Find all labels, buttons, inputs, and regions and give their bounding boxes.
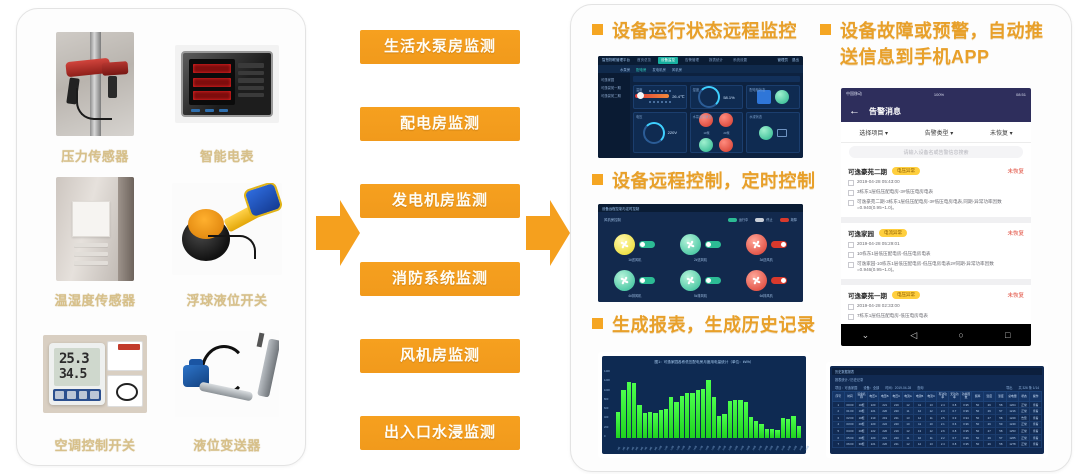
fan-icon xyxy=(680,234,701,255)
table-column-header: 序号 xyxy=(833,392,845,402)
recents-square-icon[interactable]: □ xyxy=(1005,330,1010,340)
phone-carrier: 中国移动 xyxy=(846,91,862,97)
table-cell: 0.9 xyxy=(949,415,961,422)
arrow-right-icon-1 xyxy=(314,196,362,270)
dashboard-subtab-generator[interactable]: 发电机房 xyxy=(652,67,666,72)
phone-navbar: ← 告警消息 xyxy=(841,100,1031,122)
table-cell: 3#柜 xyxy=(856,441,868,448)
chart-bar xyxy=(733,400,737,438)
panel-value: 58.1% xyxy=(723,95,734,100)
fan-icon xyxy=(746,234,767,255)
dashboard-tab-reports[interactable]: 报表统计 xyxy=(706,57,726,64)
legend-fault: 故障 xyxy=(780,217,797,222)
table-cell: 3 xyxy=(833,415,845,422)
panel-value: 220V xyxy=(668,130,677,135)
temperature-humidity-sensor-photo xyxy=(29,168,161,291)
status-badge: 电流异常 xyxy=(879,229,907,237)
table-cell: 11 xyxy=(925,434,937,441)
chart-bar xyxy=(738,400,742,438)
table-cell: 04:00 xyxy=(844,428,856,435)
table-cell: 12 xyxy=(914,415,926,422)
alarm-list-item[interactable]: 可逸豪苑二期 电压异常 未恢复 2019-04-28 05:43:00 3栋东1… xyxy=(841,161,1031,223)
float-level-switch-photo xyxy=(161,168,293,291)
control-title: 设备远程控制与定时控制 xyxy=(602,206,639,211)
table-cell: 58 xyxy=(995,428,1007,435)
bullet-square-icon xyxy=(820,24,831,35)
chevron-down-icon[interactable]: ⌄ xyxy=(862,330,870,341)
device-name: 3#送风机 xyxy=(760,257,773,262)
phone-battery: 100% xyxy=(934,92,944,97)
status-indicator-green xyxy=(775,90,789,104)
table-cell: 06:00 xyxy=(844,441,856,448)
dashboard-user[interactable]: 管理员 xyxy=(778,58,789,63)
alarm-status: 未恢复 xyxy=(1007,167,1024,175)
filter-project[interactable]: 选择项目 ▾ xyxy=(859,128,888,137)
alarm-project: 可逸豪苑二期 xyxy=(848,166,887,176)
chart-x-tick: 26栋 xyxy=(751,445,757,451)
dashboard-screenshot: 智慧物联管理平台 首页总览 设备监控 告警管理 报表统计 系统设置 管理员 退出… xyxy=(598,56,803,158)
table-cell: 221 xyxy=(879,401,891,408)
table-row[interactable]: 201:001#柜2212202201112122.30.70.96502657… xyxy=(833,408,1042,415)
phone-filter-row: 选择项目 ▾ 告警类型 ▾ 未恢复 ▾ xyxy=(841,122,1031,143)
phone-search-area: 请输入设备名或告警信息搜索 xyxy=(841,143,1031,161)
control-device-1: 1#送风机 xyxy=(604,232,666,264)
monitoring-scenarios-list: 生活水泵房监测 配电房监测 发电机房监测 消防系统监测 风机房监测 出入口水浸监… xyxy=(360,30,520,450)
table-cell: 7 xyxy=(833,441,845,448)
table-cell: 219 xyxy=(867,415,879,422)
pump-indicator-2 xyxy=(719,113,733,127)
dashboard-subtab-fan[interactable]: 风机房 xyxy=(672,67,682,72)
chart-y-tick: 1400 xyxy=(604,370,610,373)
chart-bar xyxy=(685,393,689,438)
table-cell: 0.95 xyxy=(960,441,972,448)
table-column-header: 设备名称 xyxy=(856,392,868,402)
alarm-time: 2019-04-28 05:29:01 xyxy=(857,241,900,247)
control-device-grid: 1#送风机 2#送风机 xyxy=(604,232,797,300)
dashboard-main: 温度 26.4℃ 湿度 58.1% xyxy=(630,73,803,158)
sensor-label: 空调控制开关 xyxy=(54,437,135,455)
table-cell: 1#柜 xyxy=(856,401,868,408)
alarm-time: 2019-04-28 02:33:00 xyxy=(857,303,900,309)
chart-bar xyxy=(754,421,758,438)
table-cell: 1#柜 xyxy=(856,415,868,422)
dashboard-panel-humidity: 湿度 58.1% xyxy=(690,85,744,109)
table-cell: 01:00 xyxy=(844,408,856,415)
air-conditioner-control-switch-photo: 25.334.5 xyxy=(29,312,161,435)
search-input[interactable]: 请输入设备名或告警信息搜索 xyxy=(849,146,1024,158)
home-circle-icon[interactable]: ○ xyxy=(958,330,963,340)
table-cell: 正常 xyxy=(1018,441,1030,448)
dashboard-tab-settings[interactable]: 系统设置 xyxy=(730,57,750,64)
table-row[interactable]: 403:002#柜2202222201011102.10.60.96502659… xyxy=(833,421,1042,428)
table-cell: 查看 xyxy=(1030,421,1042,428)
table-column-header: 总电量 xyxy=(1007,392,1019,402)
device-toggle[interactable] xyxy=(771,277,787,284)
table-column-header: 电压B xyxy=(879,392,891,402)
table-cell: 50 xyxy=(972,428,984,435)
back-triangle-icon[interactable]: ◁ xyxy=(910,330,917,341)
panel-title: 水泵运行状态 xyxy=(693,114,712,119)
sensor-label: 液位变送器 xyxy=(193,437,261,455)
table-row[interactable]: 100:001#柜2202212191211132.40.80.95502658… xyxy=(833,401,1042,408)
alarm-time-row: 2019-04-28 05:43:00 xyxy=(848,179,1024,186)
flood-indicator-green xyxy=(759,126,773,140)
table-cell: 2.1 xyxy=(937,421,949,428)
table-column-header: 电流C xyxy=(925,392,937,402)
pump-indicator-3 xyxy=(699,138,713,152)
table-cell: 13 xyxy=(925,441,937,448)
dashboard-sidebar-item-2[interactable]: 可逸豪苑二期 xyxy=(601,93,627,98)
table-header-row: 序号时间设备名称电压A电压B电压C电流A电流B电流C有功功率无功功率功率因数频率… xyxy=(833,392,1042,402)
table-cell: 1 xyxy=(833,401,845,408)
panel-title: 电压 xyxy=(636,114,642,119)
table-cell: 2.6 xyxy=(937,428,949,435)
chart-x-tick: 27栋 xyxy=(757,445,763,451)
table-cell: 0.8 xyxy=(949,441,961,448)
alarm-device-row: 7栋东1层低压配电房-低压电房电表 xyxy=(848,313,1024,320)
alarm-time: 2019-04-28 05:43:00 xyxy=(857,179,900,185)
table-cell: 12 xyxy=(925,408,937,415)
filter-device[interactable]: 设备：全部 xyxy=(863,385,879,390)
query-button[interactable]: 查询 xyxy=(917,385,923,390)
clock-icon xyxy=(848,304,854,310)
sensor-grid: 压力传感器 智能电表 xyxy=(17,9,305,465)
table-cell: 5 xyxy=(833,428,845,435)
dashboard-body: 可逸家园 可逸豪苑一期 可逸豪苑二期 温度 26.4℃ xyxy=(598,73,803,158)
table-titlebar: 历史数据报表 xyxy=(832,368,1042,375)
table-column-header: 电压A xyxy=(867,392,879,402)
alarm-time-row: 2019-04-28 05:29:01 xyxy=(848,241,1024,248)
sensor-item-pressure: 压力传感器 xyxy=(29,23,161,166)
chart-y-tick: 800 xyxy=(604,398,610,401)
arrow-left-icon[interactable]: ← xyxy=(849,106,860,117)
status-badge: 电压异常 xyxy=(892,291,920,299)
dashboard-tab-device-monitor[interactable]: 设备监控 xyxy=(658,57,678,64)
table-cell: 查看 xyxy=(1030,401,1042,408)
filter-project[interactable]: 项目：可逸家园 xyxy=(835,385,857,390)
device-name: 6#排风机 xyxy=(760,293,773,298)
table-cell: 10 xyxy=(902,421,914,428)
table-cell: 222 xyxy=(879,421,891,428)
dashboard-tab-alarm[interactable]: 告警管理 xyxy=(682,57,702,64)
alarm-status: 未恢复 xyxy=(1007,229,1024,237)
table-cell: 0.8 xyxy=(949,428,961,435)
device-toggle[interactable] xyxy=(771,241,787,248)
table-cell: 1216 xyxy=(1007,408,1019,415)
chart-bar xyxy=(781,418,785,438)
chart-x-tick: 25栋 xyxy=(745,445,751,451)
alarm-project: 可逸家园 xyxy=(848,228,874,238)
filter-alarm-type[interactable]: 告警类型 ▾ xyxy=(925,128,954,137)
table-row[interactable]: 706:003#柜2212202211212132.40.80.95502658… xyxy=(833,441,1042,448)
panel-title: 配电柜状态 xyxy=(749,87,765,92)
table-cell: 27 xyxy=(983,415,995,422)
table-cell: 50 xyxy=(972,441,984,448)
panel-title: 水浸状态 xyxy=(749,114,762,119)
chart-bar xyxy=(797,426,801,438)
chart-bar xyxy=(706,380,710,438)
table-cell: 219 xyxy=(891,401,903,408)
phone-page-title: 告警消息 xyxy=(869,106,901,117)
table-row[interactable]: 302:001#柜2192192211312112.50.90.94502758… xyxy=(833,415,1042,422)
table-cell: 12 xyxy=(902,401,914,408)
data-table: 序号时间设备名称电压A电压B电压C电流A电流B电流C有功功率无功功率功率因数频率… xyxy=(832,391,1042,448)
feature-heading-alarm-push: 设备故障或预警，自动推送信息到手机APP xyxy=(820,18,1050,70)
device-icon xyxy=(848,190,854,196)
table-panel: 历史数据报表 报表统计 / 历史记录 项目：可逸家园 设备：全部 时间：2019… xyxy=(830,366,1044,454)
alarm-detail: 可逸家园-10栋东1层低压配电房-低压电房电表2#同期-异常功率因数=0.946… xyxy=(857,261,1024,273)
search-placeholder: 请输入设备名或告警信息搜索 xyxy=(903,149,968,156)
table-column-header: 电压C xyxy=(891,392,903,402)
dashboard-sidebar-item-1[interactable]: 可逸豪苑一期 xyxy=(601,85,627,90)
alarm-device: 10栋东1层低压配电房-低压电房电表 xyxy=(857,251,931,257)
chart-x-tick: 18栋 xyxy=(704,445,710,451)
dashboard-panel-grid: 温度 26.4℃ 湿度 58.1% xyxy=(633,85,800,147)
dashboard-panel-cabinet-status: 配电柜状态 xyxy=(746,85,800,109)
table-cell: 221 xyxy=(867,408,879,415)
table-row[interactable]: 504:002#柜2222202191213122.60.80.95502758… xyxy=(833,428,1042,435)
sensor-item-ac-switch: 25.334.5 空调控制开关 xyxy=(29,312,161,455)
sensor-item-float-switch: 浮球液位开关 xyxy=(161,168,293,311)
table-cell: 220 xyxy=(867,401,879,408)
table-cell: 220 xyxy=(867,434,879,441)
table-column-header: 温度 xyxy=(983,392,995,402)
table-title: 历史数据报表 xyxy=(835,369,854,374)
table-row[interactable]: 605:002#柜2202212201110112.20.70.96502657… xyxy=(833,434,1042,441)
chart-x-tick: 11栋 xyxy=(663,445,669,451)
dashboard-panel-voltage: 电压 220V xyxy=(633,112,687,153)
table-cell: 02:00 xyxy=(844,415,856,422)
flood-toggle-icon[interactable] xyxy=(777,129,787,137)
control-device-3: 3#送风机 xyxy=(735,232,797,264)
chart-x-tick: 12栋 xyxy=(669,445,675,451)
legend-running: 运行中 xyxy=(728,217,749,222)
table-cell: 12 xyxy=(914,408,926,415)
table-column-header: 湿度 xyxy=(995,392,1007,402)
dashboard-panel-pump-status: 水泵运行状态 1#泵 2#泵 xyxy=(690,112,744,153)
chart-y-axis: 1400120010008006004002000 xyxy=(604,370,610,438)
table-cell: 26 xyxy=(983,401,995,408)
chart-x-tick: 19栋 xyxy=(710,445,716,451)
table-column-header: 电流B xyxy=(914,392,926,402)
device-icon xyxy=(848,314,854,320)
chart-bar xyxy=(659,410,663,438)
table-cell: 11 xyxy=(914,401,926,408)
chart-y-tick: 1200 xyxy=(604,379,610,382)
chart-bar xyxy=(674,402,678,438)
table-cell: 50 xyxy=(972,408,984,415)
chart-x-tick: 34栋 xyxy=(798,445,804,451)
chart-bar xyxy=(765,429,769,438)
table-cell: 12 xyxy=(914,441,926,448)
sensor-item-meter: 智能电表 xyxy=(161,23,293,166)
monitoring-chip-fan-room[interactable]: 风机房监测 xyxy=(360,339,520,373)
dashboard-subtab-power[interactable]: 配电房 xyxy=(636,67,646,72)
monitoring-chip-fire-system[interactable]: 消防系统监测 xyxy=(360,262,520,296)
chart-bar xyxy=(621,390,625,438)
fan-icon xyxy=(614,234,635,255)
table-cell: 正常 xyxy=(1018,401,1030,408)
table-cell: 50 xyxy=(972,401,984,408)
chart-bar xyxy=(701,389,705,438)
table-cell: 00:00 xyxy=(844,401,856,408)
table-cell: 10 xyxy=(925,421,937,428)
panel-value: 26.4℃ xyxy=(672,94,684,99)
monitoring-chip-power-distribution-room[interactable]: 配电房监测 xyxy=(360,107,520,141)
fan-icon xyxy=(680,270,701,291)
chart-x-tick: 32栋 xyxy=(786,445,792,451)
table-cell: 0.7 xyxy=(949,434,961,441)
chart-title: 图1：可逸家园各栋低压配电房月度用电量统计（单位：kWh） xyxy=(605,360,803,365)
level-transmitter-photo xyxy=(161,312,293,435)
table-cell: 2.4 xyxy=(937,401,949,408)
export-button[interactable]: 导出 xyxy=(1006,385,1012,390)
table-breadcrumb-row: 报表统计 / 历史记录 xyxy=(832,375,1042,383)
alarm-item-header: 可逸豪苑一期 电压异常 未恢复 xyxy=(848,290,1024,300)
feature-heading-remote-control: 设备远程控制，定时控制 xyxy=(592,168,822,194)
monitoring-chip-entrance-flood[interactable]: 出入口水浸监测 xyxy=(360,416,520,450)
alarm-device-row: 10栋东1层低压配电房-低压电房电表 xyxy=(848,251,1024,258)
dashboard-logout[interactable]: 退出 xyxy=(792,58,799,63)
temperature-slider[interactable] xyxy=(635,94,669,98)
bar-chart: 图1：可逸家园各栋低压配电房月度用电量统计（单位：kWh） 1400120010… xyxy=(602,356,806,454)
table-cell: 0.6 xyxy=(949,421,961,428)
dashboard-subtab-pump[interactable]: 水泵房 xyxy=(620,67,630,72)
chart-bar xyxy=(648,412,652,438)
chart-bar xyxy=(669,397,673,438)
chart-bar xyxy=(786,419,790,438)
alarm-item-header: 可逸家园 电流异常 未恢复 xyxy=(848,228,1024,238)
sensor-label: 压力传感器 xyxy=(61,148,129,166)
table-column-header: 状态 xyxy=(1018,392,1030,402)
dashboard-logo: 智慧物联管理平台 xyxy=(602,58,630,63)
device-name: 4#排风机 xyxy=(628,293,641,298)
device-toggle[interactable] xyxy=(705,241,721,248)
dashboard-panel-flood-status: 水浸状态 xyxy=(746,112,800,153)
table-cell: 1240 xyxy=(1007,421,1019,428)
control-titlebar: 设备远程控制与定时控制 xyxy=(598,204,803,212)
monitoring-chip-generator-room[interactable]: 发电机房监测 xyxy=(360,184,520,218)
legend-label: 运行中 xyxy=(739,217,749,222)
sensor-label: 浮球液位开关 xyxy=(186,292,267,310)
phone-system-navbar: ⌄ ◁ ○ □ xyxy=(841,324,1031,346)
chart-bar xyxy=(616,412,620,438)
cabinet-icon xyxy=(757,90,771,104)
monitoring-chip-water-pump-room[interactable]: 生活水泵房监测 xyxy=(360,30,520,64)
table-cell: 1265 xyxy=(1007,434,1019,441)
chart-bar xyxy=(770,429,774,438)
table-cell: 11 xyxy=(902,434,914,441)
humidity-gauge-icon xyxy=(698,86,720,108)
chart-bar xyxy=(775,430,779,438)
control-device-2: 2#送风机 xyxy=(670,232,732,264)
dashboard-subtabs: 水泵房 配电房 发电机房 风机房 xyxy=(598,65,803,73)
table-cell: 告警 xyxy=(1018,415,1030,422)
table-cell: 0.96 xyxy=(960,408,972,415)
chart-y-tick: 200 xyxy=(604,426,610,429)
filter-date[interactable]: 时间：2019-04-28 xyxy=(885,385,911,390)
table-column-header: 操作 xyxy=(1030,392,1042,402)
table-cell: 2.4 xyxy=(937,441,949,448)
table-cell: 58 xyxy=(995,401,1007,408)
table-cell: 0.96 xyxy=(960,421,972,428)
pump-label-1: 1#泵 xyxy=(703,131,709,135)
table-cell: 1278 xyxy=(1007,441,1019,448)
dashboard-sidebar-item-0[interactable]: 可逸家园 xyxy=(601,77,627,82)
table-cell: 26 xyxy=(983,408,995,415)
bullet-square-icon xyxy=(592,174,603,185)
control-device-6: 6#排风机 xyxy=(735,268,797,300)
table-cell: 1#柜 xyxy=(856,408,868,415)
device-toggle[interactable] xyxy=(705,277,721,284)
table-cell: 221 xyxy=(891,415,903,422)
pagination[interactable]: 共 326 条 1/14 xyxy=(1018,385,1039,390)
table-cell: 10 xyxy=(914,434,926,441)
mobile-app-screenshot: 中国移动 100% 08:51 ← 告警消息 选择项目 ▾ 告警类型 ▾ 未恢复… xyxy=(841,88,1031,346)
table-cell: 26 xyxy=(983,441,995,448)
feature-heading-text: 设备远程控制，定时控制 xyxy=(612,168,816,194)
table-cell: 11 xyxy=(902,408,914,415)
table-cell: 1229 xyxy=(1007,415,1019,422)
table-cell: 220 xyxy=(867,421,879,428)
chart-x-tick: 24栋 xyxy=(739,445,745,451)
chart-bar xyxy=(722,414,726,439)
legend-label: 停止 xyxy=(766,217,772,222)
chart-bar xyxy=(690,393,694,438)
dashboard-section-title-bar xyxy=(633,76,800,82)
sensor-item-temp-humidity: 温湿度传感器 xyxy=(29,168,161,311)
alarm-item-header: 可逸豪苑二期 电压异常 未恢复 xyxy=(848,166,1024,176)
chart-bar xyxy=(637,405,641,438)
table-cell: 13 xyxy=(902,415,914,422)
feature-heading-reports: 生成报表，生成历史记录 xyxy=(592,312,822,338)
remote-control-screenshot: 设备远程控制与定时控制 风机房控制 运行中 停止 故障 xyxy=(598,204,803,302)
device-toggle[interactable] xyxy=(639,277,655,284)
table-cell: 2.5 xyxy=(937,415,949,422)
table-cell: 57 xyxy=(995,434,1007,441)
table-cell: 220 xyxy=(891,434,903,441)
alarm-list-item[interactable]: 可逸家园 电流异常 未恢复 2019-04-28 05:29:01 10栋东1层… xyxy=(841,223,1031,285)
table-cell: 222 xyxy=(867,428,879,435)
chart-bar xyxy=(643,413,647,438)
chart-bar xyxy=(696,390,700,438)
filter-status[interactable]: 未恢复 ▾ xyxy=(990,128,1013,137)
chart-bar xyxy=(632,383,636,438)
table-cell: 查看 xyxy=(1030,434,1042,441)
dashboard-sidebar: 可逸家园 可逸豪苑一期 可逸豪苑二期 xyxy=(598,73,630,158)
arrow-right-icon-2 xyxy=(524,196,572,270)
fan-icon xyxy=(614,270,635,291)
table-cell: 221 xyxy=(891,441,903,448)
panel-title: 湿度 xyxy=(693,87,699,92)
chart-bar xyxy=(653,413,657,438)
table-cell: 0.8 xyxy=(949,401,961,408)
report-chart-screenshot: 图1：可逸家园各栋低压配电房月度用电量统计（单位：kWh） 1400120010… xyxy=(598,352,810,458)
table-column-header: 频率 xyxy=(972,392,984,402)
pressure-sensor-photo xyxy=(29,23,161,146)
table-cell: 221 xyxy=(867,441,879,448)
chart-bar xyxy=(680,396,684,438)
table-cell: 0.96 xyxy=(960,434,972,441)
table-toolbar: 项目：可逸家园 设备：全部 时间：2019-04-28 查询 导出 共 326 … xyxy=(832,383,1042,391)
dashboard-tab-overview[interactable]: 首页总览 xyxy=(634,57,654,64)
device-toggle[interactable] xyxy=(639,241,655,248)
table-cell: 查看 xyxy=(1030,428,1042,435)
table-cell: 12 xyxy=(925,428,937,435)
sensor-label: 温湿度传感器 xyxy=(54,292,135,310)
table-cell: 27 xyxy=(983,428,995,435)
table-cell: 2#柜 xyxy=(856,434,868,441)
